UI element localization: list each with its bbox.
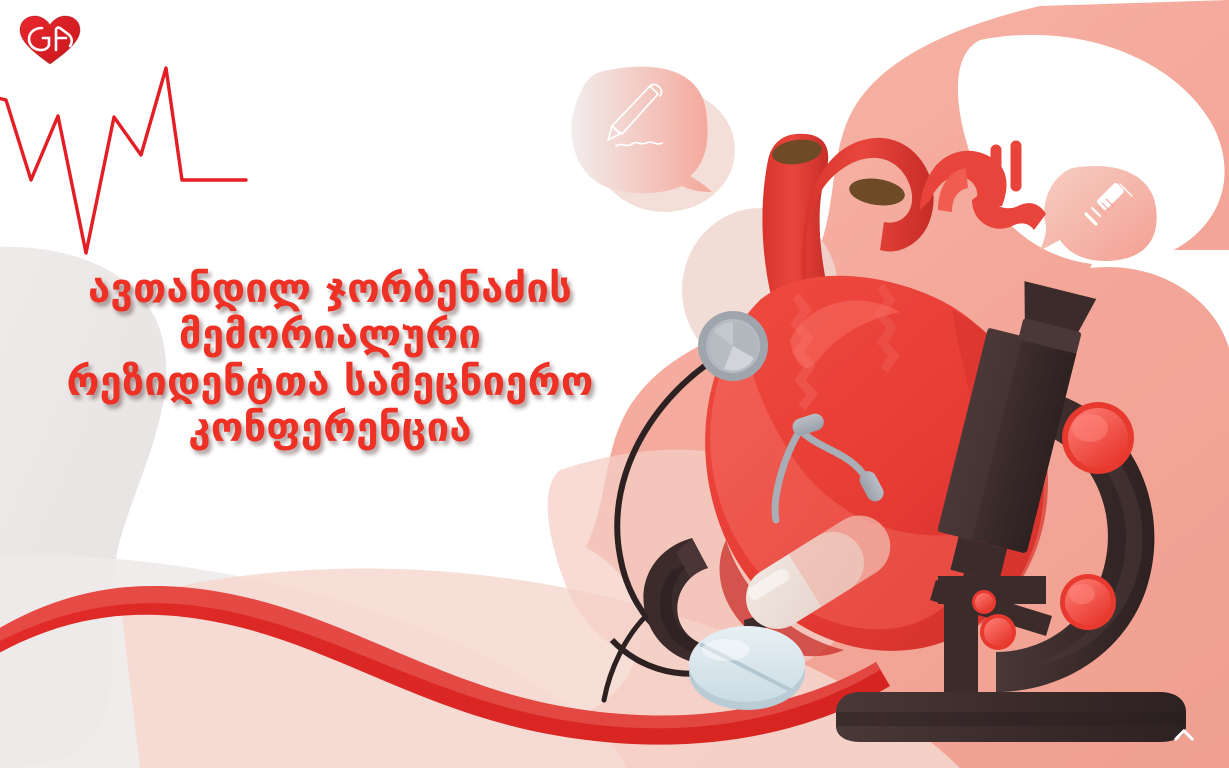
pill-capsule xyxy=(734,504,902,641)
chevron-up-icon xyxy=(1173,727,1195,742)
title-line-1: ავთანდილ ჯორბენაძის xyxy=(0,266,660,312)
page-title: ავთანდილ ჯორბენაძის მემორიალური რეზიდენტ… xyxy=(0,266,660,452)
ecg-heartbeat-line xyxy=(0,68,246,253)
rose-accent-circles xyxy=(595,88,1140,624)
anatomical-heart xyxy=(705,134,1048,657)
soft-pink-wash xyxy=(120,450,960,768)
tablet-pill xyxy=(689,626,805,710)
heart-monogram-logo[interactable] xyxy=(16,14,84,66)
microscope xyxy=(836,275,1186,742)
syringe-icon xyxy=(1086,182,1132,224)
pencil-icon xyxy=(608,85,662,147)
speech-bubble-pencil xyxy=(571,67,712,194)
title-line-3: რეზიდენტთა სამეცნიერო xyxy=(0,359,660,405)
speech-bubble-syringe xyxy=(1040,166,1157,261)
title-line-4: კონფერენცია xyxy=(0,405,660,451)
scroll-to-top-button[interactable] xyxy=(1170,722,1198,746)
red-wave-ribbon xyxy=(0,586,890,745)
banner-stage: აკად. გ. ჩაფიძის სახელობის გადაუდებელი კ… xyxy=(0,0,1229,768)
title-line-2: მემორიალური xyxy=(0,312,660,358)
